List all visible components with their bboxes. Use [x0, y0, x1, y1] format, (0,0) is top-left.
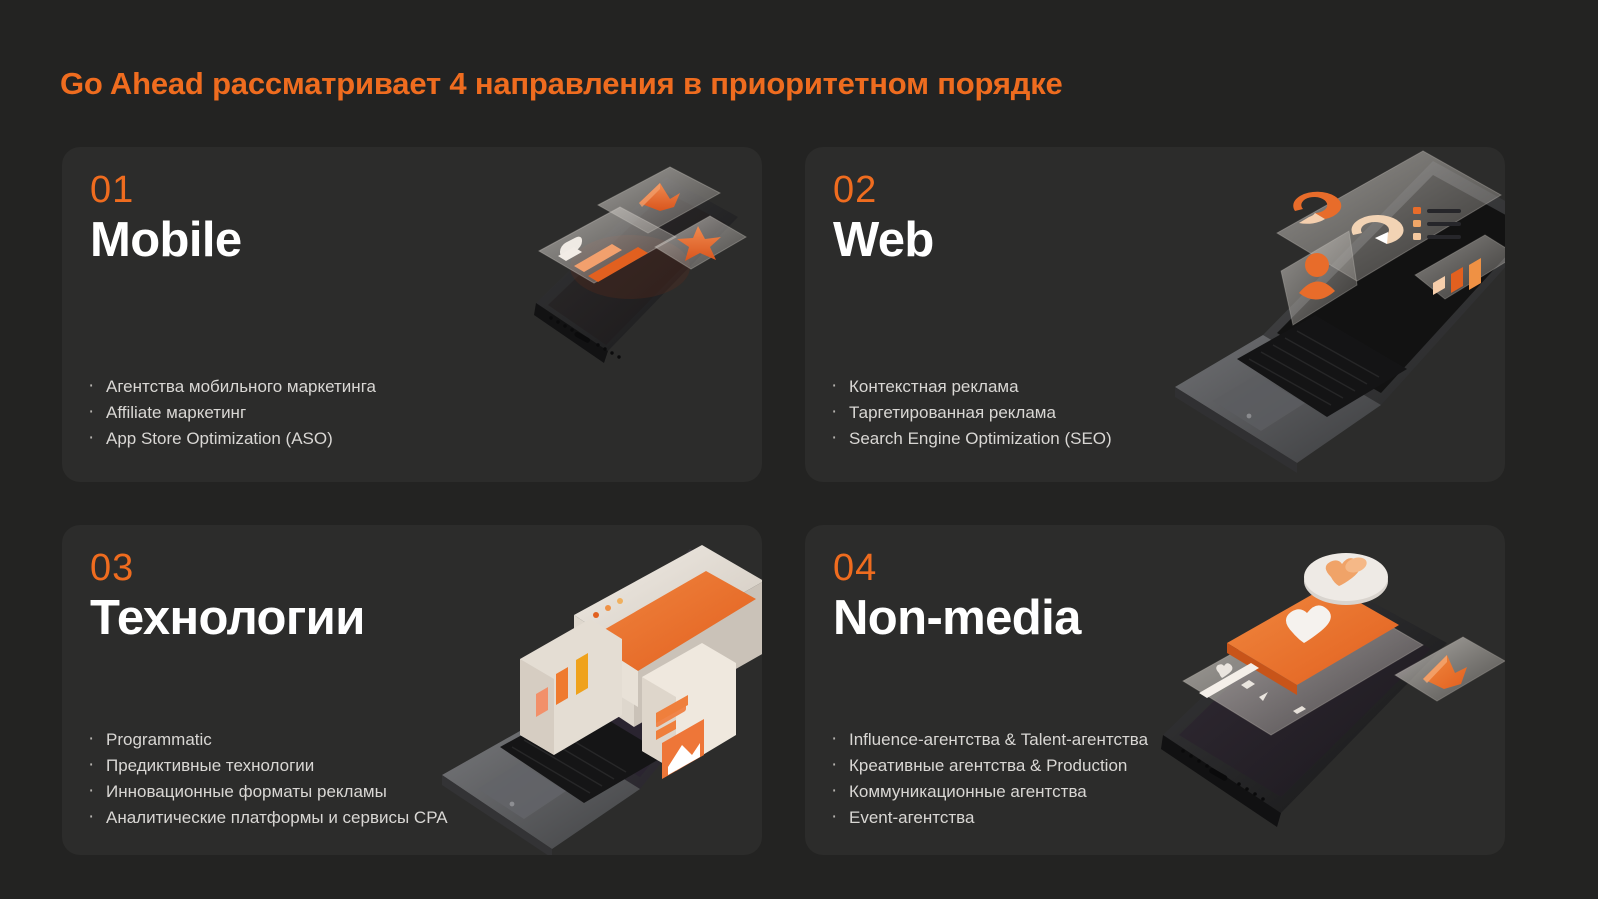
list-item: Аналитические платформы и сервисы CPA	[82, 805, 448, 831]
card-title: Mobile	[90, 215, 242, 266]
list-item: Контекстная реклама	[825, 374, 1112, 400]
card-title: Web	[833, 215, 934, 266]
card-title: Технологии	[90, 593, 365, 644]
list-item: Инновационные форматы рекламы	[82, 779, 448, 805]
direction-card-non-media[interactable]: 04 Non-media Influence-агентства & Talen…	[805, 525, 1505, 855]
list-item: Предиктивные технологии	[82, 753, 448, 779]
card-heading: 03 Технологии	[90, 549, 365, 644]
card-title: Non-media	[833, 593, 1081, 644]
page-title: Go Ahead рассматривает 4 направления в п…	[60, 66, 1063, 102]
slide-root: Go Ahead рассматривает 4 направления в п…	[0, 0, 1598, 899]
direction-card-technologies[interactable]: 03 Технологии Programmatic Предиктивные …	[62, 525, 762, 855]
list-item: Креативные агентства & Production	[825, 753, 1148, 779]
card-bullet-list: Агентства мобильного маркетинга Affiliat…	[82, 374, 376, 452]
direction-card-web[interactable]: 02 Web Контекстная реклама Таргетированн…	[805, 147, 1505, 482]
list-item: Event-агентства	[825, 805, 1148, 831]
phone-illustration-mobile	[402, 147, 762, 482]
laptop-illustration-technologies	[402, 525, 762, 855]
direction-card-mobile[interactable]: 01 Mobile Агентства мобильного маркетинг…	[62, 147, 762, 482]
list-item: Агентства мобильного маркетинга	[82, 374, 376, 400]
card-heading: 04 Non-media	[833, 549, 1081, 644]
laptop-illustration-web	[1145, 147, 1505, 482]
list-item: Коммуникационные агентства	[825, 779, 1148, 805]
direction-card-grid: 01 Mobile Агентства мобильного маркетинг…	[62, 147, 1543, 855]
list-item: App Store Optimization (ASO)	[82, 426, 376, 452]
card-bullet-list: Контекстная реклама Таргетированная рекл…	[825, 374, 1112, 452]
card-number: 01	[90, 171, 242, 211]
phone-illustration-non-media	[1145, 525, 1505, 855]
list-item: Search Engine Optimization (SEO)	[825, 426, 1112, 452]
card-number: 04	[833, 549, 1081, 589]
card-bullet-list: Influence-агентства & Talent-агентства К…	[825, 727, 1148, 831]
list-item: Affiliate маркетинг	[82, 400, 376, 426]
card-heading: 02 Web	[833, 171, 934, 266]
list-item: Programmatic	[82, 727, 448, 753]
card-number: 03	[90, 549, 365, 589]
list-item: Таргетированная реклама	[825, 400, 1112, 426]
list-item: Influence-агентства & Talent-агентства	[825, 727, 1148, 753]
card-bullet-list: Programmatic Предиктивные технологии Инн…	[82, 727, 448, 831]
card-heading: 01 Mobile	[90, 171, 242, 266]
card-number: 02	[833, 171, 934, 211]
